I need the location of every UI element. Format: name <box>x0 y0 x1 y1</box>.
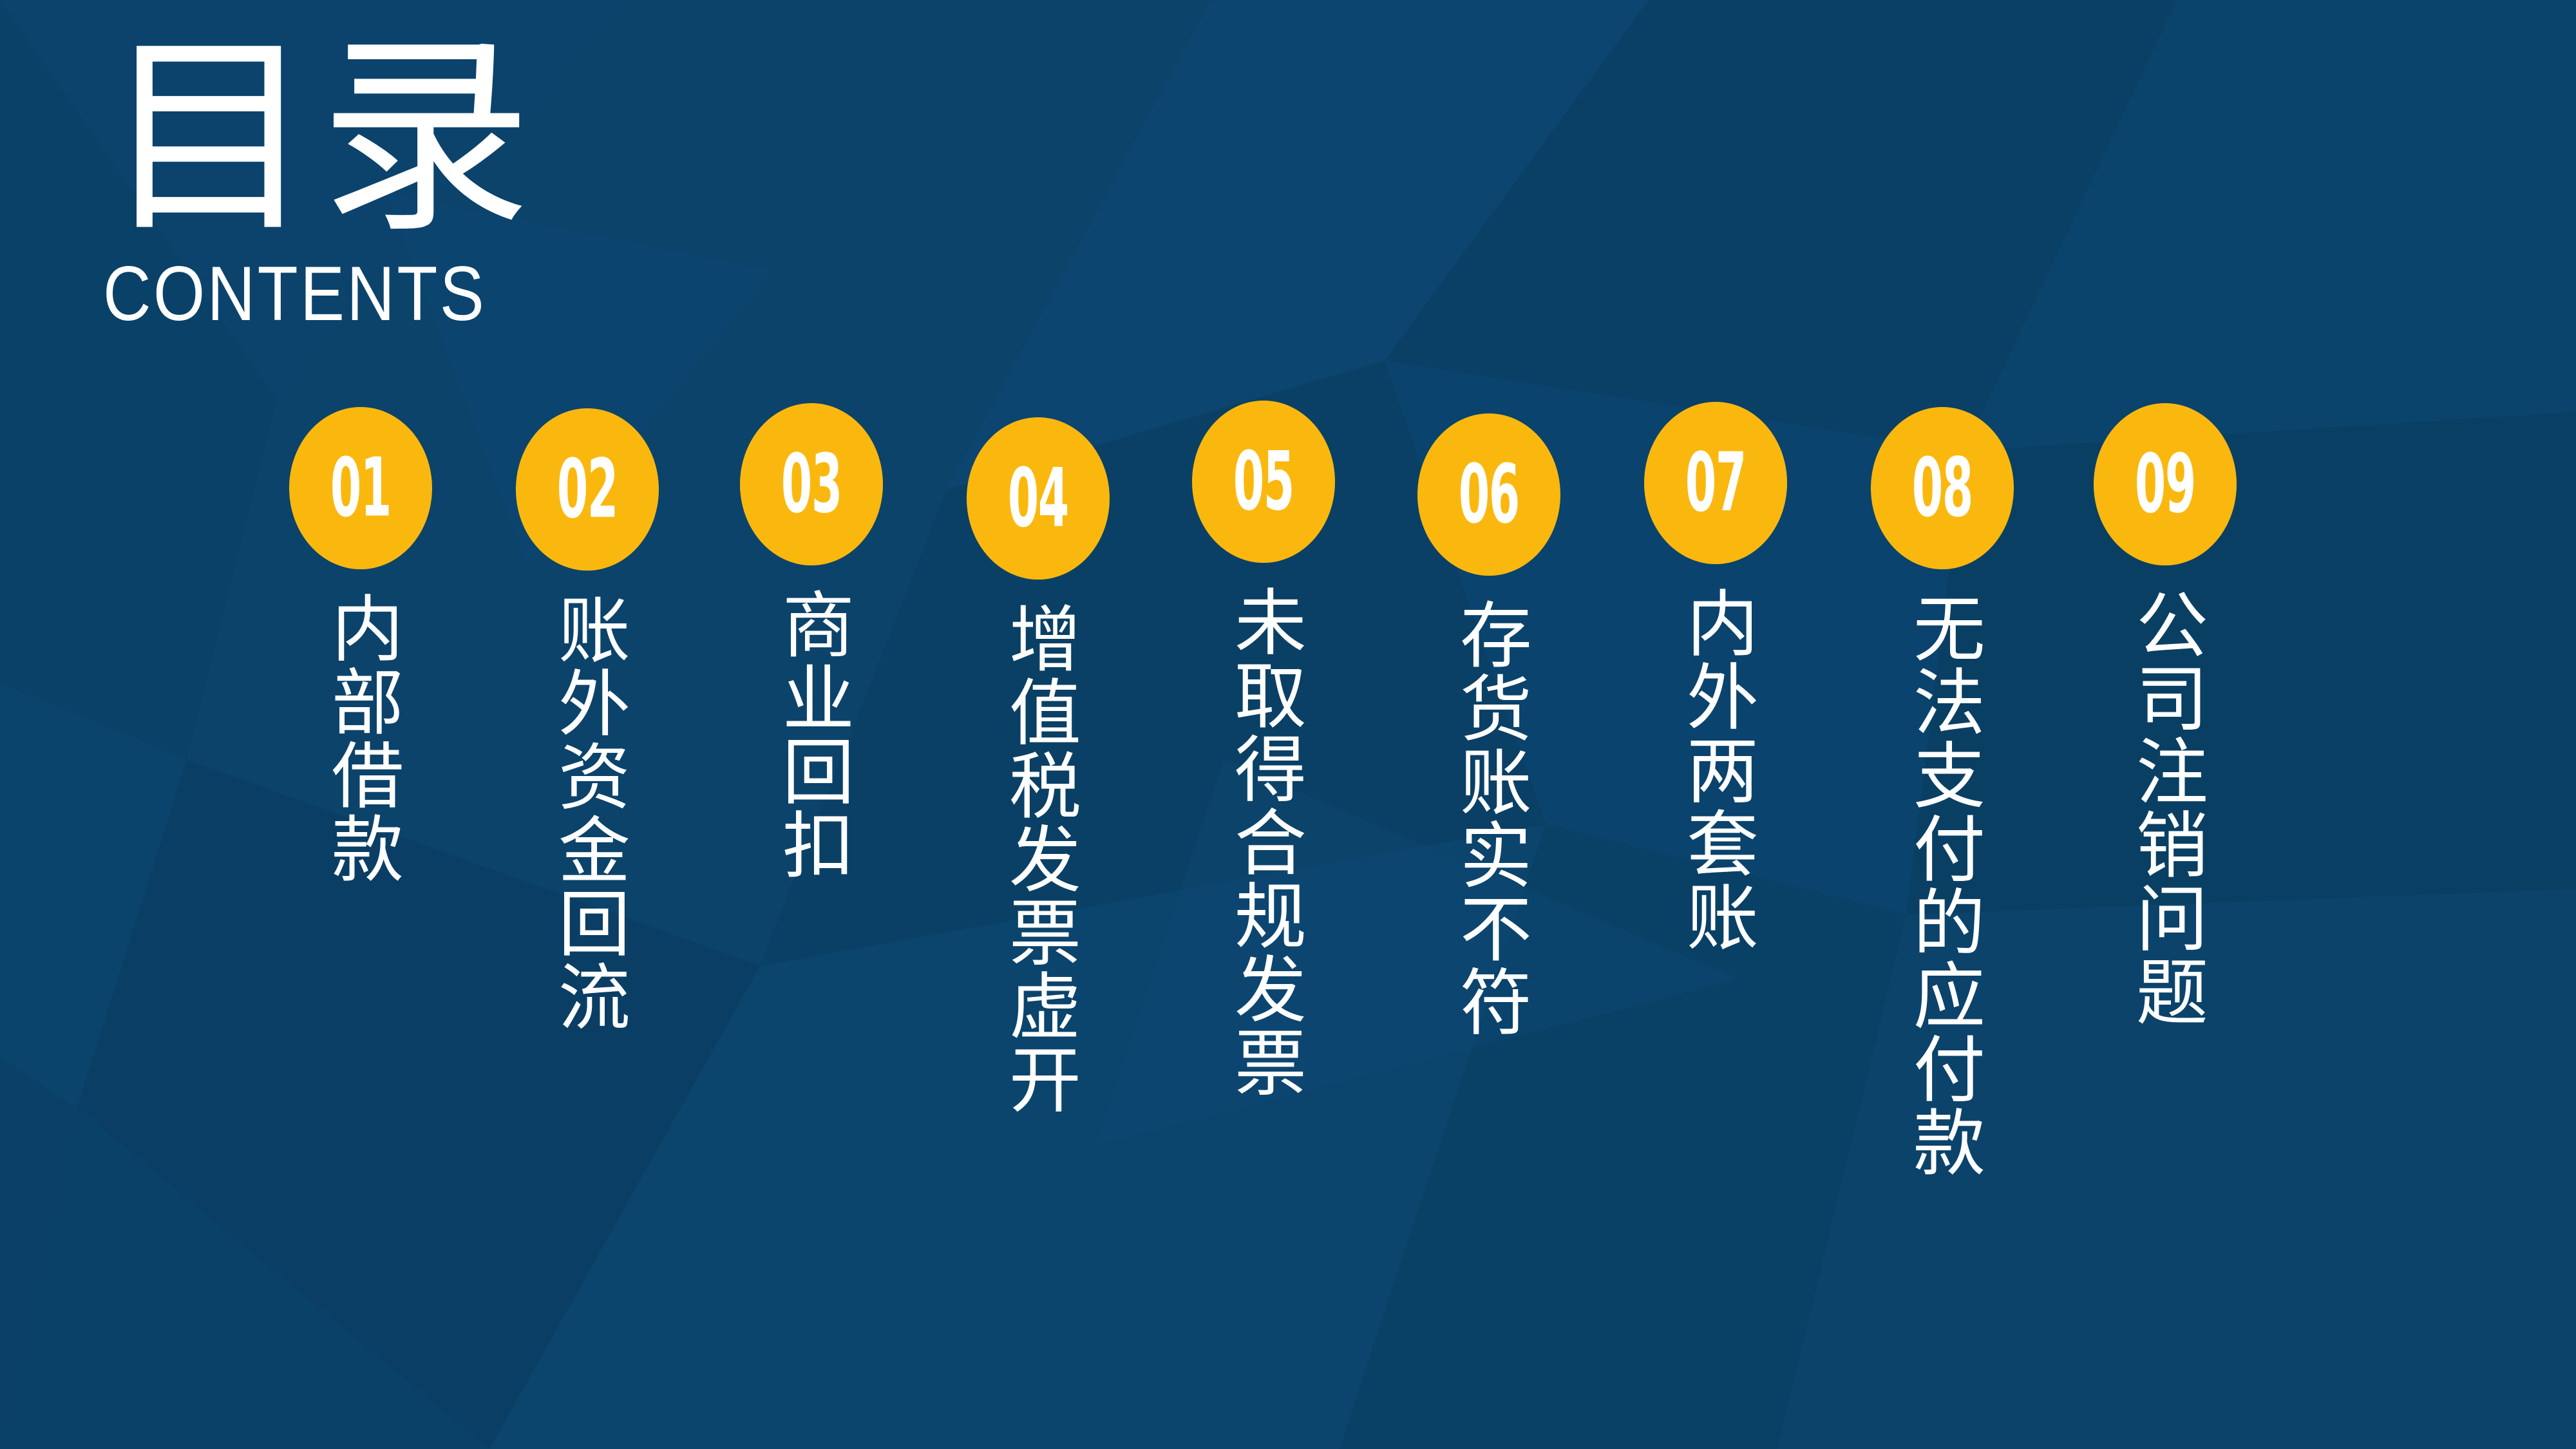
badge-number-03: 03 <box>781 444 842 524</box>
badge-number-09: 09 <box>2135 444 2195 524</box>
contents-item-04[interactable]: 04 增值税发票虚开 <box>942 417 1135 1115</box>
contents-item-03[interactable]: 03 商业回扣 <box>715 403 908 881</box>
badge-number-06: 06 <box>1459 454 1519 535</box>
badge-09[interactable]: 09 <box>2094 403 2237 565</box>
item-label-09: 公司注销问题 <box>2121 587 2210 1028</box>
item-label-05: 未取得合规发票 <box>1219 585 1308 1099</box>
item-label-03: 商业回扣 <box>767 587 856 881</box>
contents-item-09[interactable]: 09 公司注销问题 <box>2069 403 2262 1028</box>
badge-02[interactable]: 02 <box>516 408 659 571</box>
badge-06[interactable]: 06 <box>1417 413 1560 576</box>
badge-01[interactable]: 01 <box>289 407 432 569</box>
contents-item-02[interactable]: 02 账外资金回流 <box>491 408 684 1033</box>
contents-slide: 目录 CONTENTS 01 内部借款 02 账外资金回流 03 商业回扣 04 <box>0 0 2576 1449</box>
badge-05[interactable]: 05 <box>1192 401 1335 563</box>
badge-number-02: 02 <box>557 449 618 529</box>
badge-number-01: 01 <box>330 448 391 528</box>
contents-item-05[interactable]: 05 未取得合规发票 <box>1167 401 1360 1099</box>
badge-number-08: 08 <box>1912 448 1973 528</box>
item-label-04: 增值税发票虚开 <box>994 601 1083 1115</box>
contents-item-07[interactable]: 07 内外两套账 <box>1619 402 1812 953</box>
badge-08[interactable]: 08 <box>1871 407 2014 569</box>
item-label-01: 内部借款 <box>316 591 405 885</box>
badge-number-07: 07 <box>1685 442 1746 523</box>
item-label-08: 无法支付的应付款 <box>1898 591 1987 1179</box>
item-label-06: 存货账实不符 <box>1444 598 1533 1038</box>
badge-07[interactable]: 07 <box>1644 402 1787 564</box>
contents-item-01[interactable]: 01 内部借款 <box>264 407 457 885</box>
badge-04[interactable]: 04 <box>967 417 1110 580</box>
item-label-07: 内外两套账 <box>1671 586 1760 953</box>
badge-number-05: 05 <box>1233 441 1294 522</box>
badge-03[interactable]: 03 <box>740 403 883 565</box>
contents-item-08[interactable]: 08 无法支付的应付款 <box>1846 407 2039 1179</box>
contents-item-list: 01 内部借款 02 账外资金回流 03 商业回扣 04 增值税发票虚开 05 <box>0 0 2576 1449</box>
item-label-02: 账外资金回流 <box>543 592 632 1033</box>
contents-item-06[interactable]: 06 存货账实不符 <box>1392 413 1586 1038</box>
badge-number-04: 04 <box>1008 458 1068 538</box>
